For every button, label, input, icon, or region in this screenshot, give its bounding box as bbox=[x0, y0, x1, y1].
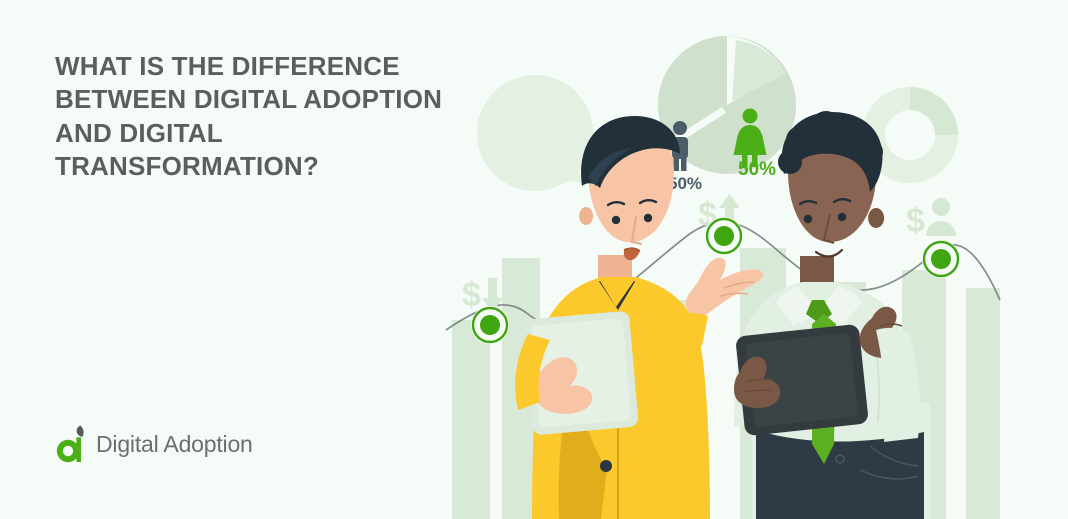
page-title: What is the difference between digital a… bbox=[55, 50, 475, 183]
node-marker-left bbox=[471, 306, 509, 344]
svg-text:$: $ bbox=[462, 276, 481, 314]
node-marker-right bbox=[922, 240, 960, 278]
brand-logo-text: Digital Adoption bbox=[96, 431, 253, 458]
dollar-person-icon: $ bbox=[906, 198, 956, 240]
node-marker-center bbox=[705, 217, 743, 255]
svg-text:$: $ bbox=[906, 202, 925, 240]
stat-female-value: 50% bbox=[738, 159, 776, 180]
brand-logo[interactable]: Digital Adoption bbox=[55, 425, 253, 463]
two-colleagues-discussing-analytics-illustration: $ $ $ 50% 50% bbox=[440, 0, 1068, 519]
digital-adoption-hero-banner: What is the difference between digital a… bbox=[0, 0, 1068, 519]
digital-adoption-leaf-a-mark bbox=[55, 425, 87, 463]
